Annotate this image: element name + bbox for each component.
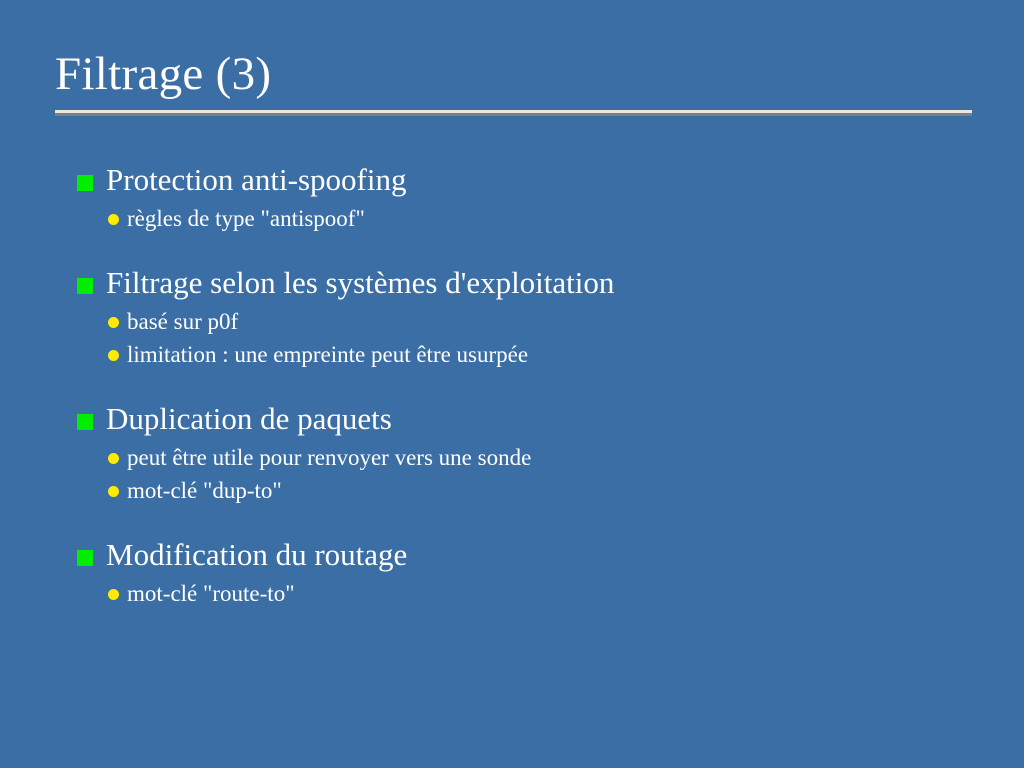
green-square-bullet-icon: [77, 278, 93, 294]
bullet-level1: Protection anti-spoofing: [0, 160, 1024, 200]
bullet-level2-label: basé sur p0f: [127, 309, 238, 334]
bullet-level2-label: mot-clé "route-to": [127, 581, 295, 606]
title-divider-shadow: [55, 113, 972, 116]
bullet-group: Filtrage selon les systèmes d'exploitati…: [0, 263, 1024, 371]
bullet-group: Protection anti-spoofing règles de type …: [0, 160, 1024, 235]
yellow-dot-bullet-icon: [108, 317, 119, 328]
bullet-level2-label: mot-clé "dup-to": [127, 478, 282, 503]
bullet-level2: mot-clé "dup-to": [0, 474, 1024, 507]
yellow-dot-bullet-icon: [108, 589, 119, 600]
bullet-level2-label: limitation : une empreinte peut être usu…: [127, 342, 528, 367]
bullet-level1-label: Filtrage selon les systèmes d'exploitati…: [106, 265, 614, 300]
bullet-level2-label: règles de type "antispoof": [127, 206, 365, 231]
bullet-level2: peut être utile pour renvoyer vers une s…: [0, 441, 1024, 474]
slide-body: Protection anti-spoofing règles de type …: [0, 160, 1024, 610]
bullet-level2-label: peut être utile pour renvoyer vers une s…: [127, 445, 531, 470]
page-title: Filtrage (3): [55, 48, 972, 100]
bullet-group: Duplication de paquets peut être utile p…: [0, 399, 1024, 507]
yellow-dot-bullet-icon: [108, 350, 119, 361]
green-square-bullet-icon: [77, 414, 93, 430]
bullet-level2: règles de type "antispoof": [0, 202, 1024, 235]
bullet-level2: limitation : une empreinte peut être usu…: [0, 338, 1024, 371]
bullet-level1: Filtrage selon les systèmes d'exploitati…: [0, 263, 1024, 303]
green-square-bullet-icon: [77, 550, 93, 566]
slide-title-block: Filtrage (3): [55, 48, 972, 100]
bullet-level1-label: Modification du routage: [106, 537, 407, 572]
bullet-level1-label: Duplication de paquets: [106, 401, 392, 436]
green-square-bullet-icon: [77, 175, 93, 191]
presentation-slide: Filtrage (3) Protection anti-spoofing rè…: [0, 0, 1024, 768]
bullet-level1: Modification du routage: [0, 535, 1024, 575]
yellow-dot-bullet-icon: [108, 453, 119, 464]
bullet-level2: basé sur p0f: [0, 305, 1024, 338]
bullet-group: Modification du routage mot-clé "route-t…: [0, 535, 1024, 610]
yellow-dot-bullet-icon: [108, 214, 119, 225]
bullet-level2: mot-clé "route-to": [0, 577, 1024, 610]
bullet-level1: Duplication de paquets: [0, 399, 1024, 439]
yellow-dot-bullet-icon: [108, 486, 119, 497]
title-divider: [55, 110, 972, 116]
bullet-level1-label: Protection anti-spoofing: [106, 162, 406, 197]
